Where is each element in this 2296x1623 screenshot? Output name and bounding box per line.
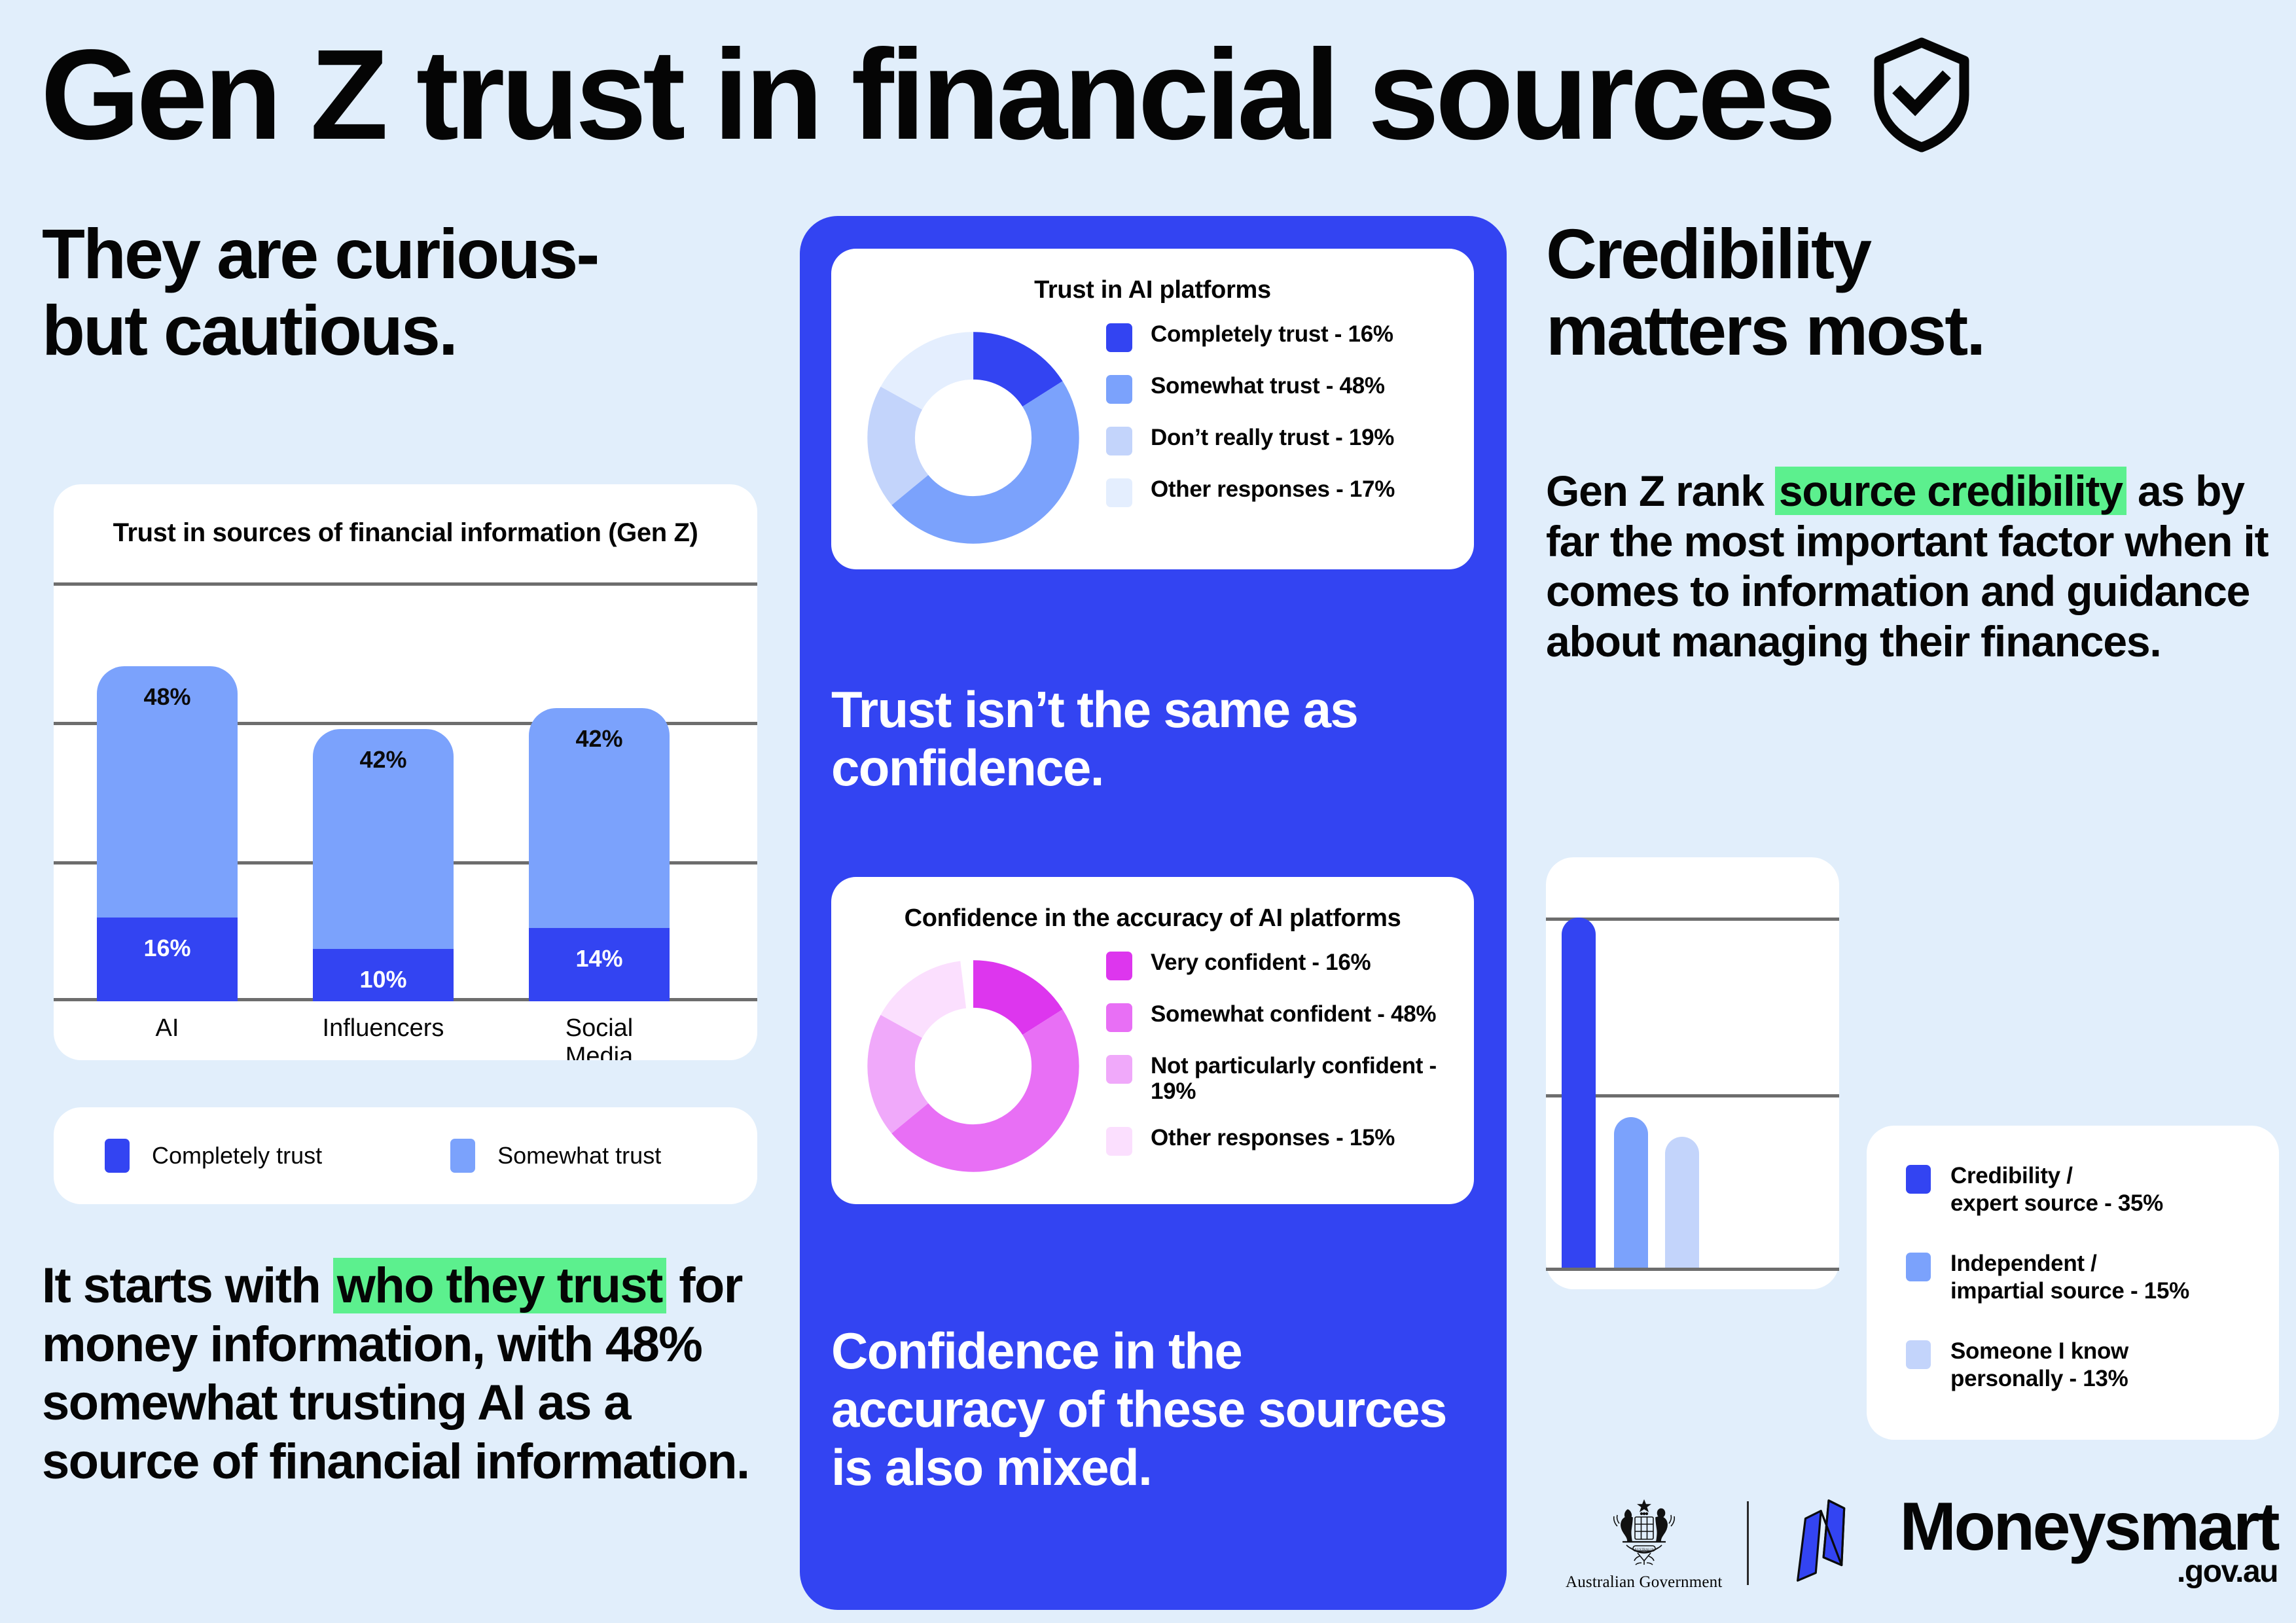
right-bar-someone-i-know <box>1665 1137 1699 1268</box>
bar-social-completely-label: 14% <box>575 945 622 972</box>
donut1-label-other-responses: Other responses - 17% <box>1151 477 1395 503</box>
bar-ai-completely-label: 16% <box>143 935 190 962</box>
bar-group-social-media: 42% 14% <box>529 708 670 1001</box>
donut1-label-completely-trust: Completely trust - 16% <box>1151 322 1393 348</box>
bar-influencers-completely-label: 10% <box>359 966 406 993</box>
australian-government-logo: AUSTRALIA Australian Government <box>1564 1495 1723 1592</box>
donut1-label-dont-really-trust: Don’t really trust - 19% <box>1151 425 1394 451</box>
donut2-legend-item-2: Not particularly confident - 19% <box>1106 1054 1460 1104</box>
right-subhead-line2: matters most. <box>1546 293 2279 369</box>
left-subhead-line1: They are curious- <box>42 216 762 293</box>
left-column-heading: They are curious- but cautious. <box>42 216 762 368</box>
donut2-title: Confidence in the accuracy of AI platfor… <box>831 904 1474 933</box>
legend-label-somewhat-trust: Somewhat trust <box>497 1142 661 1169</box>
donut1-legend-item-0: Completely trust - 16% <box>1106 322 1460 352</box>
donut2-swatch-somewhat-confident <box>1106 1003 1132 1032</box>
donut1-swatch-other-responses <box>1106 478 1132 507</box>
center-headline-confidence-mixed: Confidence in the accuracy of these sour… <box>831 1322 1460 1497</box>
donut2-swatch-very-confident <box>1106 952 1132 980</box>
moneysmart-mark-icon <box>1776 1493 1881 1594</box>
donut1-swatch-completely-trust <box>1106 323 1132 352</box>
australian-government-label: Australian Government <box>1566 1573 1723 1592</box>
footer-divider <box>1747 1501 1749 1585</box>
trust-ai-donut-card: Trust in AI platforms Completely trust -… <box>831 249 1474 569</box>
donut1-swatch-somewhat-trust <box>1106 375 1132 404</box>
x-label-ai: AI <box>97 1014 238 1043</box>
footer-logos: AUSTRALIA Australian Government <box>1564 1484 2278 1602</box>
right-column-heading: Credibility matters most. <box>1546 216 2279 368</box>
right-legend-credibility-line1: Credibility / <box>1950 1163 2073 1188</box>
right-legend-independent-line2: impartial source - 15% <box>1950 1278 2189 1304</box>
legend-swatch-somewhat-trust <box>450 1139 475 1173</box>
right-subhead-line1: Credibility <box>1546 216 2279 293</box>
right-gridline-0 <box>1546 1268 1839 1271</box>
confidence-ai-donut-card: Confidence in the accuracy of AI platfor… <box>831 877 1474 1204</box>
important-factor-bar-chart-card <box>1546 857 1839 1289</box>
donut1-svg <box>865 330 1081 546</box>
bar-influencers-somewhat-trust: 42% <box>313 729 454 949</box>
donut2-swatch-not-particularly-confident <box>1106 1055 1132 1084</box>
legend-item-somewhat-trust: Somewhat trust <box>450 1139 661 1173</box>
donut1-legend-item-2: Don’t really trust - 19% <box>1106 425 1460 455</box>
legend-label-completely-trust: Completely trust <box>152 1142 322 1169</box>
right-bar-independent <box>1614 1117 1648 1268</box>
right-body-paragraph: Gen Z rank source credibility as by far … <box>1546 466 2279 666</box>
bar-ai-somewhat-trust: 48% <box>97 666 238 918</box>
left-subhead-line2: but cautious. <box>42 293 762 369</box>
donut2-legend-item-3: Other responses - 15% <box>1106 1126 1460 1156</box>
donut2-label-somewhat-confident: Somewhat confident - 48% <box>1151 1002 1436 1027</box>
donut1-legend-item-3: Other responses - 17% <box>1106 477 1460 507</box>
infographic-page: Gen Z trust in financial sources They ar… <box>0 0 2296 1623</box>
legend-swatch-completely-trust <box>105 1139 130 1173</box>
page-header: Gen Z trust in financial sources <box>41 13 2266 177</box>
bar-social-somewhat-trust: 42% <box>529 708 670 928</box>
bar-chart-legend-card: Completely trust Somewhat trust <box>54 1107 757 1204</box>
moneysmart-domain: .gov.au <box>2177 1554 2278 1590</box>
moneysmart-logo: Moneysmart .gov.au <box>1776 1493 2278 1594</box>
bar-social-somewhat-label: 42% <box>575 725 622 753</box>
bar-social-completely-trust: 14% <box>529 928 670 1001</box>
right-legend-swatch-credibility <box>1906 1165 1931 1194</box>
left-body-pre: It starts with <box>42 1258 333 1313</box>
trust-sources-bar-chart-card: Trust in sources of financial informatio… <box>54 484 757 1060</box>
donut1-chart <box>865 330 1081 546</box>
right-legend-swatch-independent <box>1906 1253 1931 1281</box>
donut2-legend-item-1: Somewhat confident - 48% <box>1106 1002 1460 1032</box>
right-legend-someone-line1: Someone I know <box>1950 1338 2128 1364</box>
right-body-pre: Gen Z rank <box>1546 467 1775 515</box>
donut1-swatch-dont-really-trust <box>1106 427 1132 455</box>
left-body-paragraph: It starts with who they trust for money … <box>42 1257 781 1491</box>
right-legend-label-independent: Independent /impartial source - 15% <box>1950 1250 2189 1305</box>
right-legend-credibility-line2: expert source - 35% <box>1950 1190 2163 1216</box>
right-legend-swatch-someone-i-know <box>1906 1340 1931 1369</box>
donut1-legend: Completely trust - 16% Somewhat trust - … <box>1106 322 1460 507</box>
bar-series-group: 48% 16% 42% 10% <box>54 582 757 1001</box>
australian-coat-of-arms-icon: AUSTRALIA <box>1602 1495 1687 1569</box>
right-bar-plot-area <box>1546 878 1839 1271</box>
right-gridline-30 <box>1546 918 1839 921</box>
donut1-label-somewhat-trust: Somewhat trust - 48% <box>1151 374 1385 399</box>
bar-chart-plot-area: 48% 16% 42% 10% <box>54 582 757 1001</box>
moneysmart-wordmark: Moneysmart <box>1899 1497 2278 1558</box>
donut2-label-not-particularly-confident: Not particularly confident - 19% <box>1151 1054 1460 1104</box>
right-body-highlight: source credibility <box>1775 467 2126 515</box>
right-legend-item-credibility: Credibility /expert source - 35% <box>1906 1162 2279 1217</box>
bar-ai-somewhat-label: 48% <box>143 683 190 711</box>
donut2-label-other-responses: Other responses - 15% <box>1151 1126 1395 1151</box>
left-body-highlight: who they trust <box>333 1258 666 1313</box>
bar-chart-title: Trust in sources of financial informatio… <box>54 518 757 548</box>
right-legend-someone-line2: personally - 13% <box>1950 1366 2128 1391</box>
donut2-label-very-confident: Very confident - 16% <box>1151 950 1371 976</box>
donut1-legend-item-1: Somewhat trust - 48% <box>1106 374 1460 404</box>
center-headline-trust-vs-confidence: Trust isn’t the same as confidence. <box>831 681 1460 797</box>
x-label-influencers: Influencers <box>313 1014 454 1043</box>
right-bar-credibility <box>1562 918 1596 1268</box>
donut2-svg <box>865 958 1081 1174</box>
donut2-chart <box>865 958 1081 1174</box>
page-title: Gen Z trust in financial sources <box>41 31 1833 159</box>
donut2-swatch-other-responses <box>1106 1127 1132 1156</box>
bar-influencers-somewhat-label: 42% <box>359 746 406 774</box>
important-factor-legend-card: Credibility /expert source - 35% Indepen… <box>1867 1126 2279 1440</box>
right-legend-label-someone-i-know: Someone I knowpersonally - 13% <box>1950 1338 2128 1393</box>
donut2-legend: Very confident - 16% Somewhat confident … <box>1106 950 1460 1156</box>
bar-chart-x-axis-labels: AI Influencers Social Media <box>54 1014 757 1054</box>
bar-group-influencers: 42% 10% <box>313 729 454 1001</box>
bar-ai-completely-trust: 16% <box>97 918 238 1001</box>
center-blue-panel: Trust in AI platforms Completely trust -… <box>800 216 1507 1610</box>
donut2-legend-item-0: Very confident - 16% <box>1106 950 1460 980</box>
x-label-social-media: Social Media <box>529 1014 670 1060</box>
bar-group-ai: 48% 16% <box>97 666 238 1001</box>
right-legend-item-someone-i-know: Someone I knowpersonally - 13% <box>1906 1338 2279 1393</box>
shield-check-icon <box>1869 36 1974 154</box>
legend-item-completely-trust: Completely trust <box>105 1139 322 1173</box>
donut1-title: Trust in AI platforms <box>831 276 1474 304</box>
right-legend-independent-line1: Independent / <box>1950 1251 2097 1276</box>
bar-influencers-completely-trust: 10% <box>313 949 454 1001</box>
right-legend-label-credibility: Credibility /expert source - 35% <box>1950 1162 2163 1217</box>
svg-text:AUSTRALIA: AUSTRALIA <box>1634 1547 1654 1551</box>
right-legend-item-independent: Independent /impartial source - 15% <box>1906 1250 2279 1305</box>
